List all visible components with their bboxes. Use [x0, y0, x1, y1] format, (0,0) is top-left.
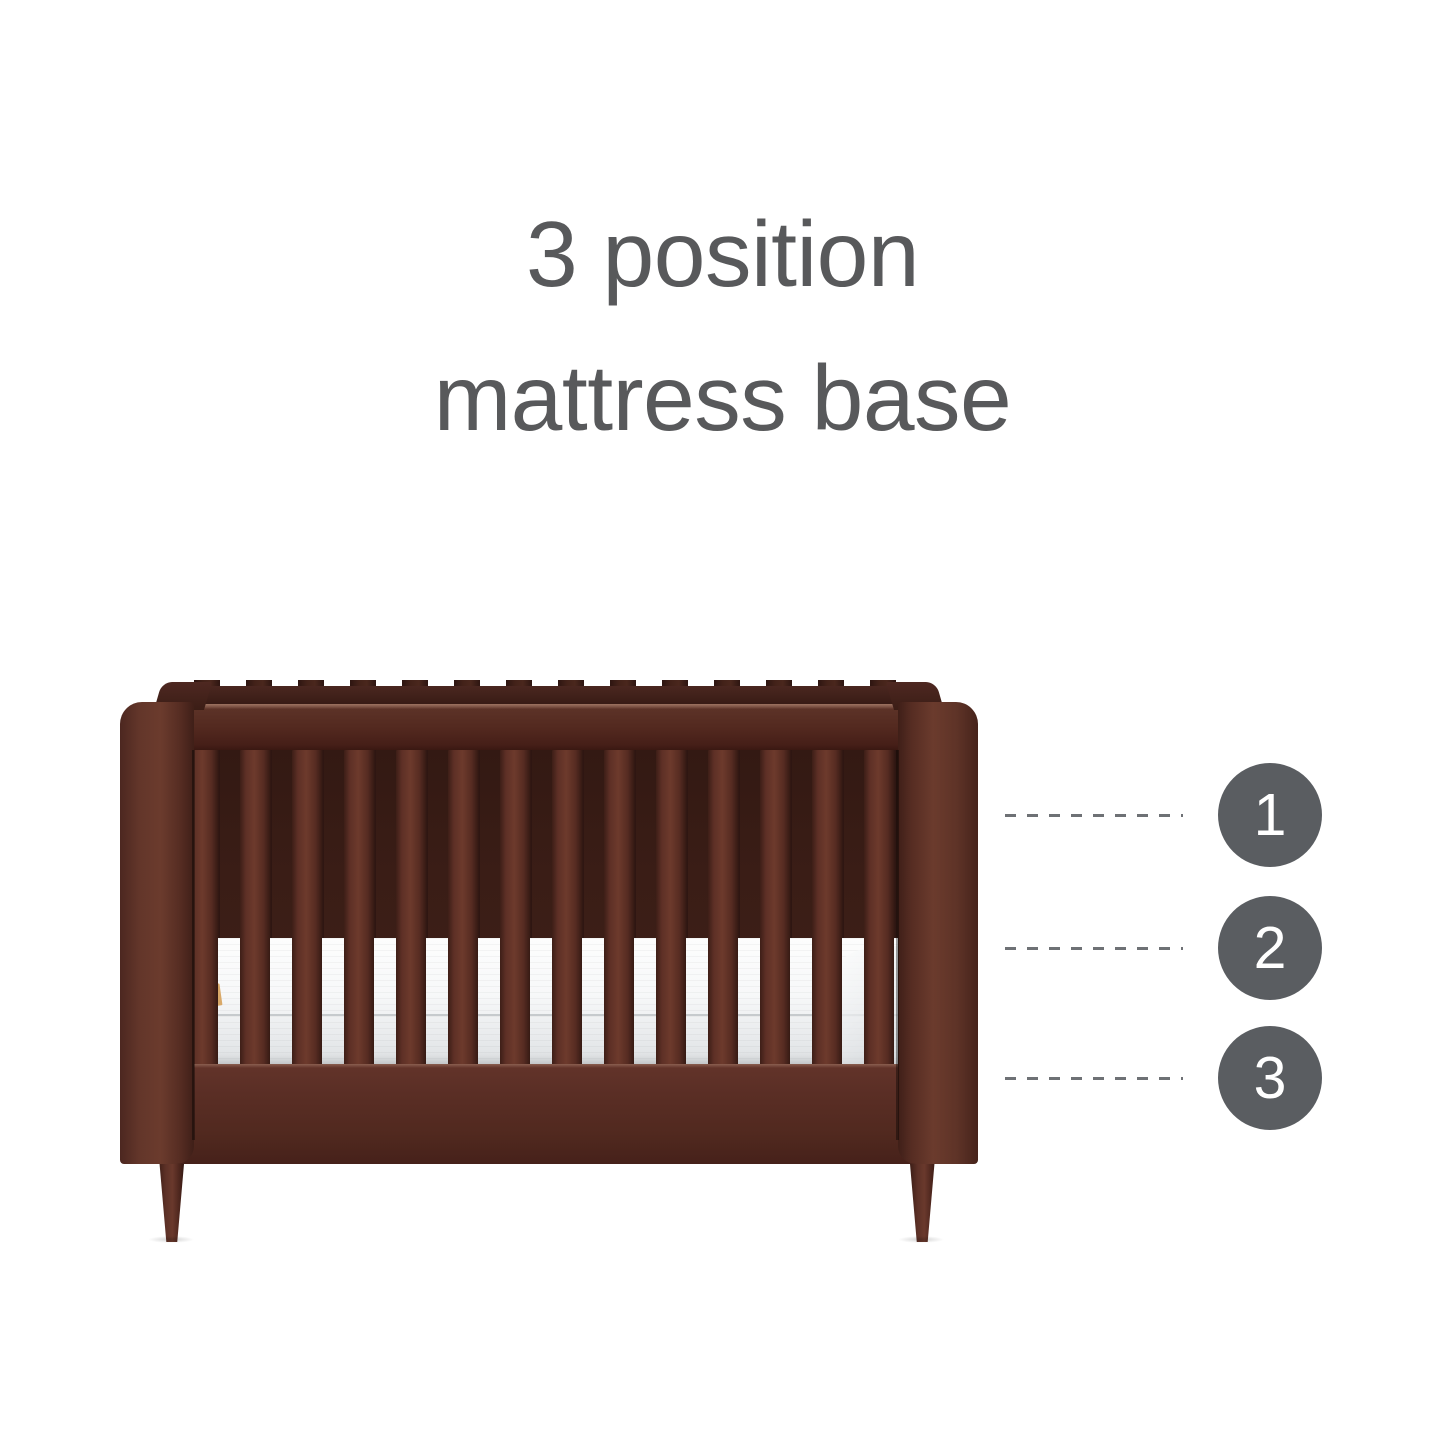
crib-leg-left: [158, 1164, 184, 1242]
crib-post-seam-right: [896, 750, 899, 1140]
crib-post-seam-left: [192, 750, 195, 1140]
crib-front-slat: [708, 750, 738, 1070]
crib-lower-rail-panel: [162, 1064, 944, 1164]
position-badge-3[interactable]: 3: [1218, 1026, 1322, 1130]
crib-front-slat: [552, 750, 582, 1070]
crib-floor-shadow-right: [898, 1236, 944, 1243]
page-title: 3 position mattress base: [0, 182, 1445, 470]
leader-line-icon: [1005, 947, 1183, 950]
crib-front-slat: [344, 750, 374, 1070]
position-badge-1[interactable]: 1: [1218, 763, 1322, 867]
crib-front-slat: [448, 750, 478, 1070]
crib-product-image: [118, 680, 978, 1220]
crib-end-panel-left: [120, 702, 194, 1164]
crib-leg-right: [910, 1164, 936, 1242]
crib-front-slat: [656, 750, 686, 1070]
leader-line-icon: [1005, 814, 1183, 817]
crib-top-rail: [162, 704, 944, 750]
panel-highlight: [162, 1064, 944, 1068]
crib-front-slat: [812, 750, 842, 1070]
leader-line-icon: [1005, 1077, 1183, 1080]
crib-front-slat: [604, 750, 634, 1070]
crib-front-slat: [500, 750, 530, 1070]
position-badge-2[interactable]: 2: [1218, 896, 1322, 1000]
crib-front-slat: [760, 750, 790, 1070]
crib-floor-shadow-left: [148, 1236, 194, 1243]
crib-front-slat: [240, 750, 270, 1070]
crib-front-slat: [396, 750, 426, 1070]
crib-front-slat: [864, 750, 894, 1070]
rail-highlight: [162, 704, 944, 709]
crib-front-slat: [292, 750, 322, 1070]
infographic-canvas: 3 position mattress base: [0, 0, 1445, 1445]
crib-end-panel-right: [898, 702, 978, 1164]
